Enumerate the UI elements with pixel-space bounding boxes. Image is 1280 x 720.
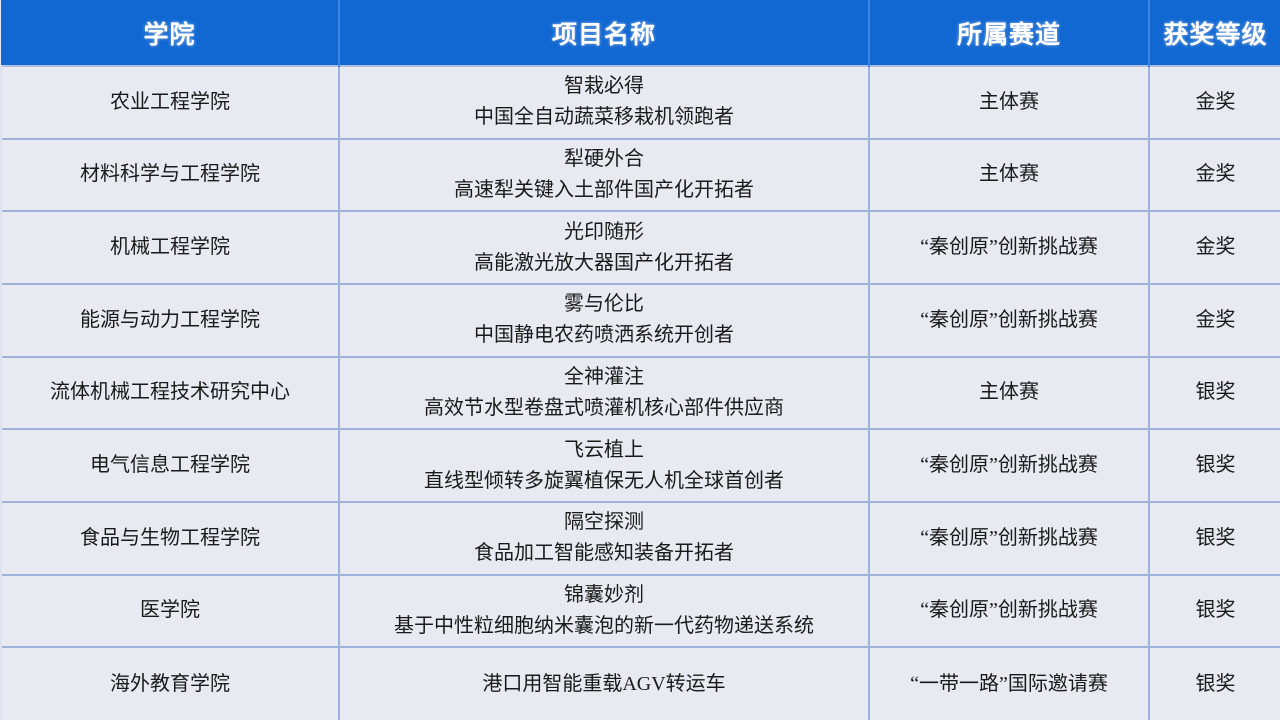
project-title: 港口用智能重载AGV转运车 — [346, 670, 862, 699]
cell-award: 银奖 — [1149, 502, 1280, 575]
project-title: 犁硬外合 — [346, 145, 862, 174]
cell-project: 港口用智能重载AGV转运车 — [339, 647, 869, 720]
table-row: 医学院锦囊妙剂基于中性粒细胞纳米囊泡的新一代药物递送系统“秦创原”创新挑战赛银奖 — [1, 575, 1280, 648]
cell-award: 银奖 — [1149, 357, 1280, 430]
cell-track: 主体赛 — [869, 66, 1149, 139]
table-header: 学院 项目名称 所属赛道 获奖等级 — [1, 0, 1280, 66]
table-row: 电气信息工程学院飞云植上直线型倾转多旋翼植保无人机全球首创者“秦创原”创新挑战赛… — [1, 429, 1280, 502]
cell-college: 电气信息工程学院 — [1, 429, 339, 502]
project-subtitle: 高效节水型卷盘式喷灌机核心部件供应商 — [346, 394, 862, 423]
cell-award: 银奖 — [1149, 647, 1280, 720]
column-header-project: 项目名称 — [339, 0, 869, 66]
cell-project: 光印随形高能激光放大器国产化开拓者 — [339, 211, 869, 284]
cell-project: 全神灌注高效节水型卷盘式喷灌机核心部件供应商 — [339, 357, 869, 430]
table-row: 流体机械工程技术研究中心全神灌注高效节水型卷盘式喷灌机核心部件供应商主体赛银奖 — [1, 357, 1280, 430]
project-title: 光印随形 — [346, 218, 862, 247]
project-title: 全神灌注 — [346, 363, 862, 392]
cell-award: 金奖 — [1149, 211, 1280, 284]
table-row: 能源与动力工程学院雾与伦比中国静电农药喷洒系统开创者“秦创原”创新挑战赛金奖 — [1, 284, 1280, 357]
project-subtitle: 食品加工智能感知装备开拓者 — [346, 539, 862, 568]
cell-college: 食品与生物工程学院 — [1, 502, 339, 575]
cell-track: “秦创原”创新挑战赛 — [869, 575, 1149, 648]
cell-track: “秦创原”创新挑战赛 — [869, 429, 1149, 502]
cell-track: “秦创原”创新挑战赛 — [869, 211, 1149, 284]
cell-project: 锦囊妙剂基于中性粒细胞纳米囊泡的新一代药物递送系统 — [339, 575, 869, 648]
cell-college: 机械工程学院 — [1, 211, 339, 284]
project-title: 隔空探测 — [346, 508, 862, 537]
table-row: 机械工程学院光印随形高能激光放大器国产化开拓者“秦创原”创新挑战赛金奖 — [1, 211, 1280, 284]
table-row: 海外教育学院港口用智能重载AGV转运车“一带一路”国际邀请赛银奖 — [1, 647, 1280, 720]
cell-track: “一带一路”国际邀请赛 — [869, 647, 1149, 720]
table-body: 农业工程学院智栽必得中国全自动蔬菜移栽机领跑者主体赛金奖材料科学与工程学院犁硬外… — [1, 66, 1280, 720]
project-subtitle: 高速犁关键入土部件国产化开拓者 — [346, 176, 862, 205]
column-header-award: 获奖等级 — [1149, 0, 1280, 66]
table-row: 食品与生物工程学院隔空探测食品加工智能感知装备开拓者“秦创原”创新挑战赛银奖 — [1, 502, 1280, 575]
project-subtitle: 基于中性粒细胞纳米囊泡的新一代药物递送系统 — [346, 612, 862, 641]
cell-project: 智栽必得中国全自动蔬菜移栽机领跑者 — [339, 66, 869, 139]
project-title: 智栽必得 — [346, 72, 862, 101]
cell-college: 医学院 — [1, 575, 339, 648]
cell-project: 雾与伦比中国静电农药喷洒系统开创者 — [339, 284, 869, 357]
cell-track: 主体赛 — [869, 139, 1149, 212]
column-header-track: 所属赛道 — [869, 0, 1149, 66]
table-row: 材料科学与工程学院犁硬外合高速犁关键入土部件国产化开拓者主体赛金奖 — [1, 139, 1280, 212]
project-title: 锦囊妙剂 — [346, 581, 862, 610]
project-subtitle: 中国静电农药喷洒系统开创者 — [346, 321, 862, 350]
award-results-table: 学院 项目名称 所属赛道 获奖等级 农业工程学院智栽必得中国全自动蔬菜移栽机领跑… — [0, 0, 1280, 720]
project-title: 飞云植上 — [346, 436, 862, 465]
cell-award: 金奖 — [1149, 284, 1280, 357]
project-subtitle: 中国全自动蔬菜移栽机领跑者 — [346, 103, 862, 132]
cell-college: 农业工程学院 — [1, 66, 339, 139]
cell-track: 主体赛 — [869, 357, 1149, 430]
cell-college: 流体机械工程技术研究中心 — [1, 357, 339, 430]
cell-project: 飞云植上直线型倾转多旋翼植保无人机全球首创者 — [339, 429, 869, 502]
project-title: 雾与伦比 — [346, 290, 862, 319]
project-subtitle: 高能激光放大器国产化开拓者 — [346, 249, 862, 278]
table-header-row: 学院 项目名称 所属赛道 获奖等级 — [1, 0, 1280, 66]
column-header-college: 学院 — [1, 0, 339, 66]
cell-project: 犁硬外合高速犁关键入土部件国产化开拓者 — [339, 139, 869, 212]
cell-track: “秦创原”创新挑战赛 — [869, 502, 1149, 575]
cell-college: 材料科学与工程学院 — [1, 139, 339, 212]
cell-award: 银奖 — [1149, 575, 1280, 648]
cell-college: 能源与动力工程学院 — [1, 284, 339, 357]
cell-track: “秦创原”创新挑战赛 — [869, 284, 1149, 357]
cell-award: 金奖 — [1149, 66, 1280, 139]
cell-college: 海外教育学院 — [1, 647, 339, 720]
project-subtitle: 直线型倾转多旋翼植保无人机全球首创者 — [346, 467, 862, 496]
cell-award: 银奖 — [1149, 429, 1280, 502]
cell-award: 金奖 — [1149, 139, 1280, 212]
table-row: 农业工程学院智栽必得中国全自动蔬菜移栽机领跑者主体赛金奖 — [1, 66, 1280, 139]
cell-project: 隔空探测食品加工智能感知装备开拓者 — [339, 502, 869, 575]
